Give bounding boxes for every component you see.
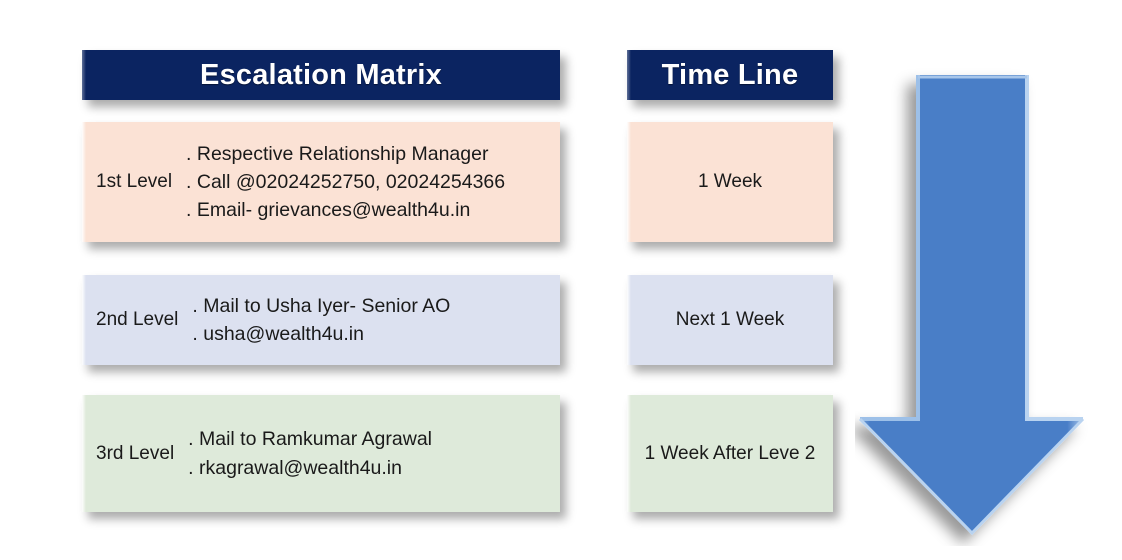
timeline-cell-level-3: 1 Week After Leve 2: [627, 395, 833, 512]
level-label-1: 1st Level: [82, 171, 178, 193]
escalation-matrix-header: Escalation Matrix: [82, 50, 560, 100]
detail-line: . Email- grievances@wealth4u.in: [186, 196, 560, 224]
down-arrow-icon: [855, 66, 1095, 546]
detail-line: . Respective Relationship Manager: [186, 140, 560, 168]
timeline-cell-label: 1 Week: [698, 171, 762, 193]
escalation-row-level-2: 2nd Level . Mail to Usha Iyer- Senior AO…: [82, 275, 560, 365]
detail-line: . Call @02024252750, 02024254366: [186, 168, 560, 196]
escalation-matrix-diagram: Escalation Matrix Time Line 1st Level . …: [0, 0, 1122, 560]
time-line-header: Time Line: [627, 50, 833, 100]
escalation-row-level-3: 3rd Level . Mail to Ramkumar Agrawal . r…: [82, 395, 560, 512]
detail-line: . Mail to Ramkumar Agrawal: [188, 425, 560, 453]
level-details-2: . Mail to Usha Iyer- Senior AO . usha@we…: [184, 292, 560, 349]
time-line-header-label: Time Line: [662, 59, 799, 92]
detail-line: . Mail to Usha Iyer- Senior AO: [192, 292, 560, 320]
timeline-cell-label: 1 Week After Leve 2: [645, 443, 816, 465]
timeline-cell-label: Next 1 Week: [676, 309, 784, 331]
escalation-matrix-header-label: Escalation Matrix: [200, 59, 442, 92]
timeline-cell-level-1: 1 Week: [627, 122, 833, 242]
level-details-1: . Respective Relationship Manager . Call…: [178, 140, 560, 225]
detail-line: . usha@wealth4u.in: [192, 320, 560, 348]
level-details-3: . Mail to Ramkumar Agrawal . rkagrawal@w…: [180, 425, 560, 482]
timeline-cell-level-2: Next 1 Week: [627, 275, 833, 365]
level-label-2: 2nd Level: [82, 309, 184, 331]
escalation-row-level-1: 1st Level . Respective Relationship Mana…: [82, 122, 560, 242]
detail-line: . rkagrawal@wealth4u.in: [188, 454, 560, 482]
level-label-3: 3rd Level: [82, 443, 180, 465]
